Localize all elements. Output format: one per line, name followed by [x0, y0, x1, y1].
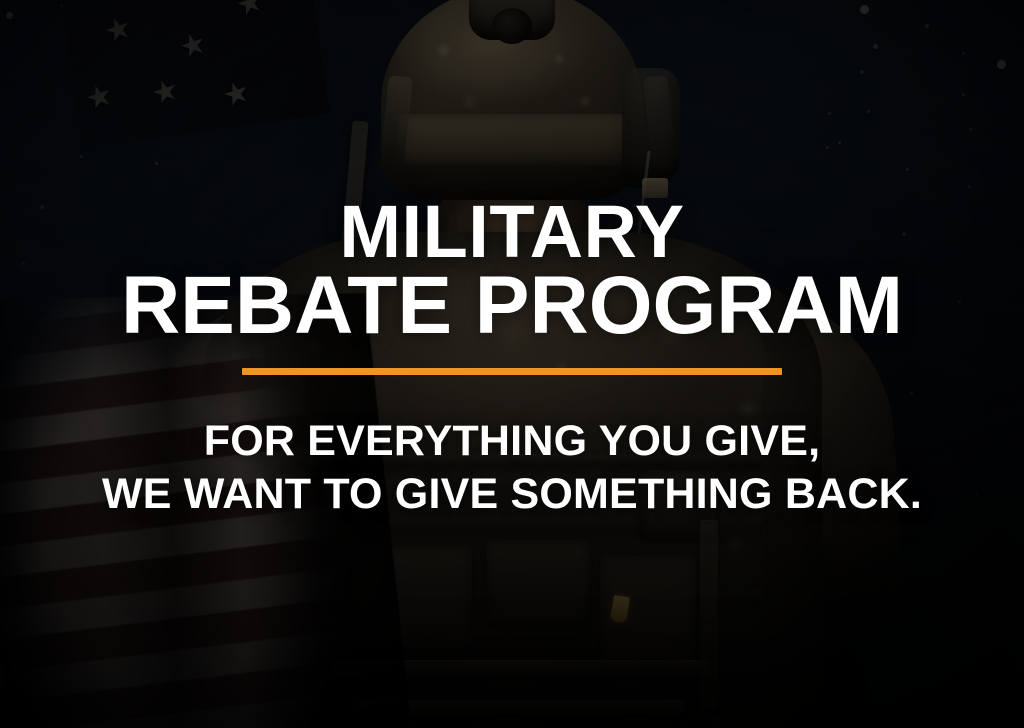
subheadline-line-2: WE WANT TO GIVE SOMETHING BACK. [102, 468, 922, 521]
banner-text-overlay: MILITARY REBATE PROGRAM FOR EVERYTHING Y… [0, 0, 1024, 728]
page-subtitle: FOR EVERYTHING YOU GIVE, WE WANT TO GIVE… [102, 415, 922, 522]
orange-divider [242, 368, 782, 375]
headline-line-2: REBATE PROGRAM [121, 267, 903, 346]
subheadline-line-1: FOR EVERYTHING YOU GIVE, [102, 415, 922, 468]
page-title: MILITARY REBATE PROGRAM [121, 196, 903, 346]
headline-line-1: MILITARY [121, 196, 903, 267]
military-rebate-banner: MILITARY REBATE PROGRAM FOR EVERYTHING Y… [0, 0, 1024, 728]
